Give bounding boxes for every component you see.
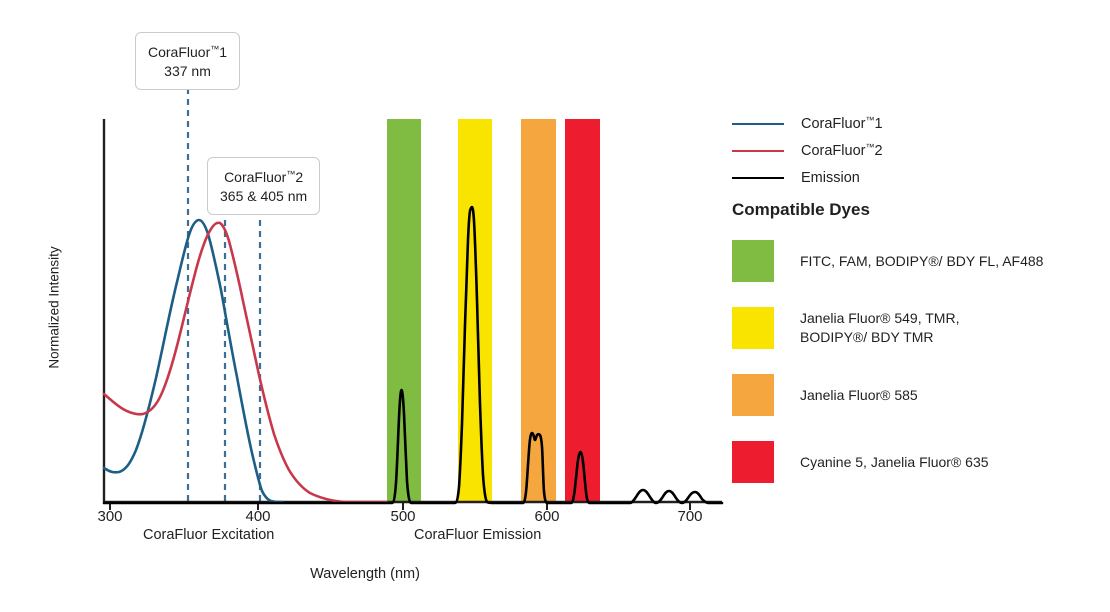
dye-swatch-yellow	[732, 307, 774, 349]
dye-label-green-line1: FITC, FAM, BODIPY®/ BDY FL, AF488	[800, 253, 1043, 269]
callout-corafluor2: CoraFluor™2 365 & 405 nm	[207, 157, 320, 215]
dye-label-yellow: Janelia Fluor® 549, TMR, BODIPY®/ BDY TM…	[800, 309, 959, 347]
legend-line-emission	[732, 177, 784, 179]
dye-label-green: FITC, FAM, BODIPY®/ BDY FL, AF488	[800, 252, 1043, 271]
dye-band-yellow	[458, 119, 492, 502]
dye-swatch-red	[732, 441, 774, 483]
dye-swatch-orange	[732, 374, 774, 416]
y-axis-title: Normalized Intensity	[47, 218, 62, 398]
compatible-dyes-heading: Compatible Dyes	[732, 200, 870, 220]
series-legend: CoraFluor™1 CoraFluor™2 Emission	[730, 110, 1110, 191]
legend-item-corafluor1: CoraFluor™1	[730, 110, 1110, 137]
xtick-label-300: 300	[80, 508, 140, 525]
dye-label-yellow-line1: Janelia Fluor® 549, TMR,	[800, 310, 959, 326]
dye-item-orange: Janelia Fluor® 585	[730, 370, 1110, 420]
dye-item-yellow: Janelia Fluor® 549, TMR, BODIPY®/ BDY TM…	[730, 303, 1110, 353]
dye-label-orange-line1: Janelia Fluor® 585	[800, 387, 918, 403]
xtick-label-400: 400	[228, 508, 288, 525]
dye-label-yellow-line2: BODIPY®/ BDY TMR	[800, 329, 934, 345]
dye-label-red: Cyanine 5, Janelia Fluor® 635	[800, 453, 989, 472]
region-label-excitation: CoraFluor Excitation	[143, 527, 274, 543]
figure-root: CoraFluor™1 337 nm CoraFluor™2 365 & 405…	[0, 0, 1110, 612]
legend-line-corafluor1	[732, 123, 784, 125]
xtick-label-600: 600	[517, 508, 577, 525]
legend-line-corafluor2	[732, 150, 784, 152]
x-axis-title: Wavelength (nm)	[0, 566, 730, 582]
dye-swatch-green	[732, 240, 774, 282]
dye-label-red-line1: Cyanine 5, Janelia Fluor® 635	[800, 454, 989, 470]
dye-item-green: FITC, FAM, BODIPY®/ BDY FL, AF488	[730, 236, 1110, 286]
chart-area: CoraFluor™1 337 nm CoraFluor™2 365 & 405…	[0, 0, 730, 612]
trademark-symbol: ™	[286, 169, 295, 179]
legend-panel: CoraFluor™1 CoraFluor™2 Emission Compati…	[730, 0, 1110, 612]
callout-corafluor1: CoraFluor™1 337 nm	[135, 32, 240, 90]
xtick-label-500: 500	[373, 508, 433, 525]
trademark-symbol: ™	[210, 44, 219, 54]
legend-label-corafluor2: CoraFluor™2	[801, 142, 883, 159]
callout-corafluor1-line1: CoraFluor™1	[148, 44, 227, 60]
curve-corafluor2	[104, 223, 387, 502]
dye-band-red	[565, 119, 600, 502]
legend-item-corafluor2: CoraFluor™2	[730, 137, 1110, 164]
legend-label-corafluor1: CoraFluor™1	[801, 115, 883, 132]
legend-label-emission: Emission	[801, 170, 860, 186]
dye-label-orange: Janelia Fluor® 585	[800, 386, 918, 405]
region-label-emission: CoraFluor Emission	[414, 527, 541, 543]
dye-band-green	[387, 119, 421, 502]
xtick-label-700: 700	[660, 508, 720, 525]
dye-item-red: Cyanine 5, Janelia Fluor® 635	[730, 437, 1110, 487]
dye-band-orange	[521, 119, 556, 502]
legend-item-emission: Emission	[730, 164, 1110, 191]
callout-corafluor1-line2: 337 nm	[148, 62, 227, 81]
dye-legend: FITC, FAM, BODIPY®/ BDY FL, AF488 Janeli…	[730, 236, 1110, 504]
dye-bands	[387, 119, 600, 502]
callout-corafluor2-line2: 365 & 405 nm	[220, 187, 307, 206]
callout-corafluor2-line1: CoraFluor™2	[224, 169, 303, 185]
